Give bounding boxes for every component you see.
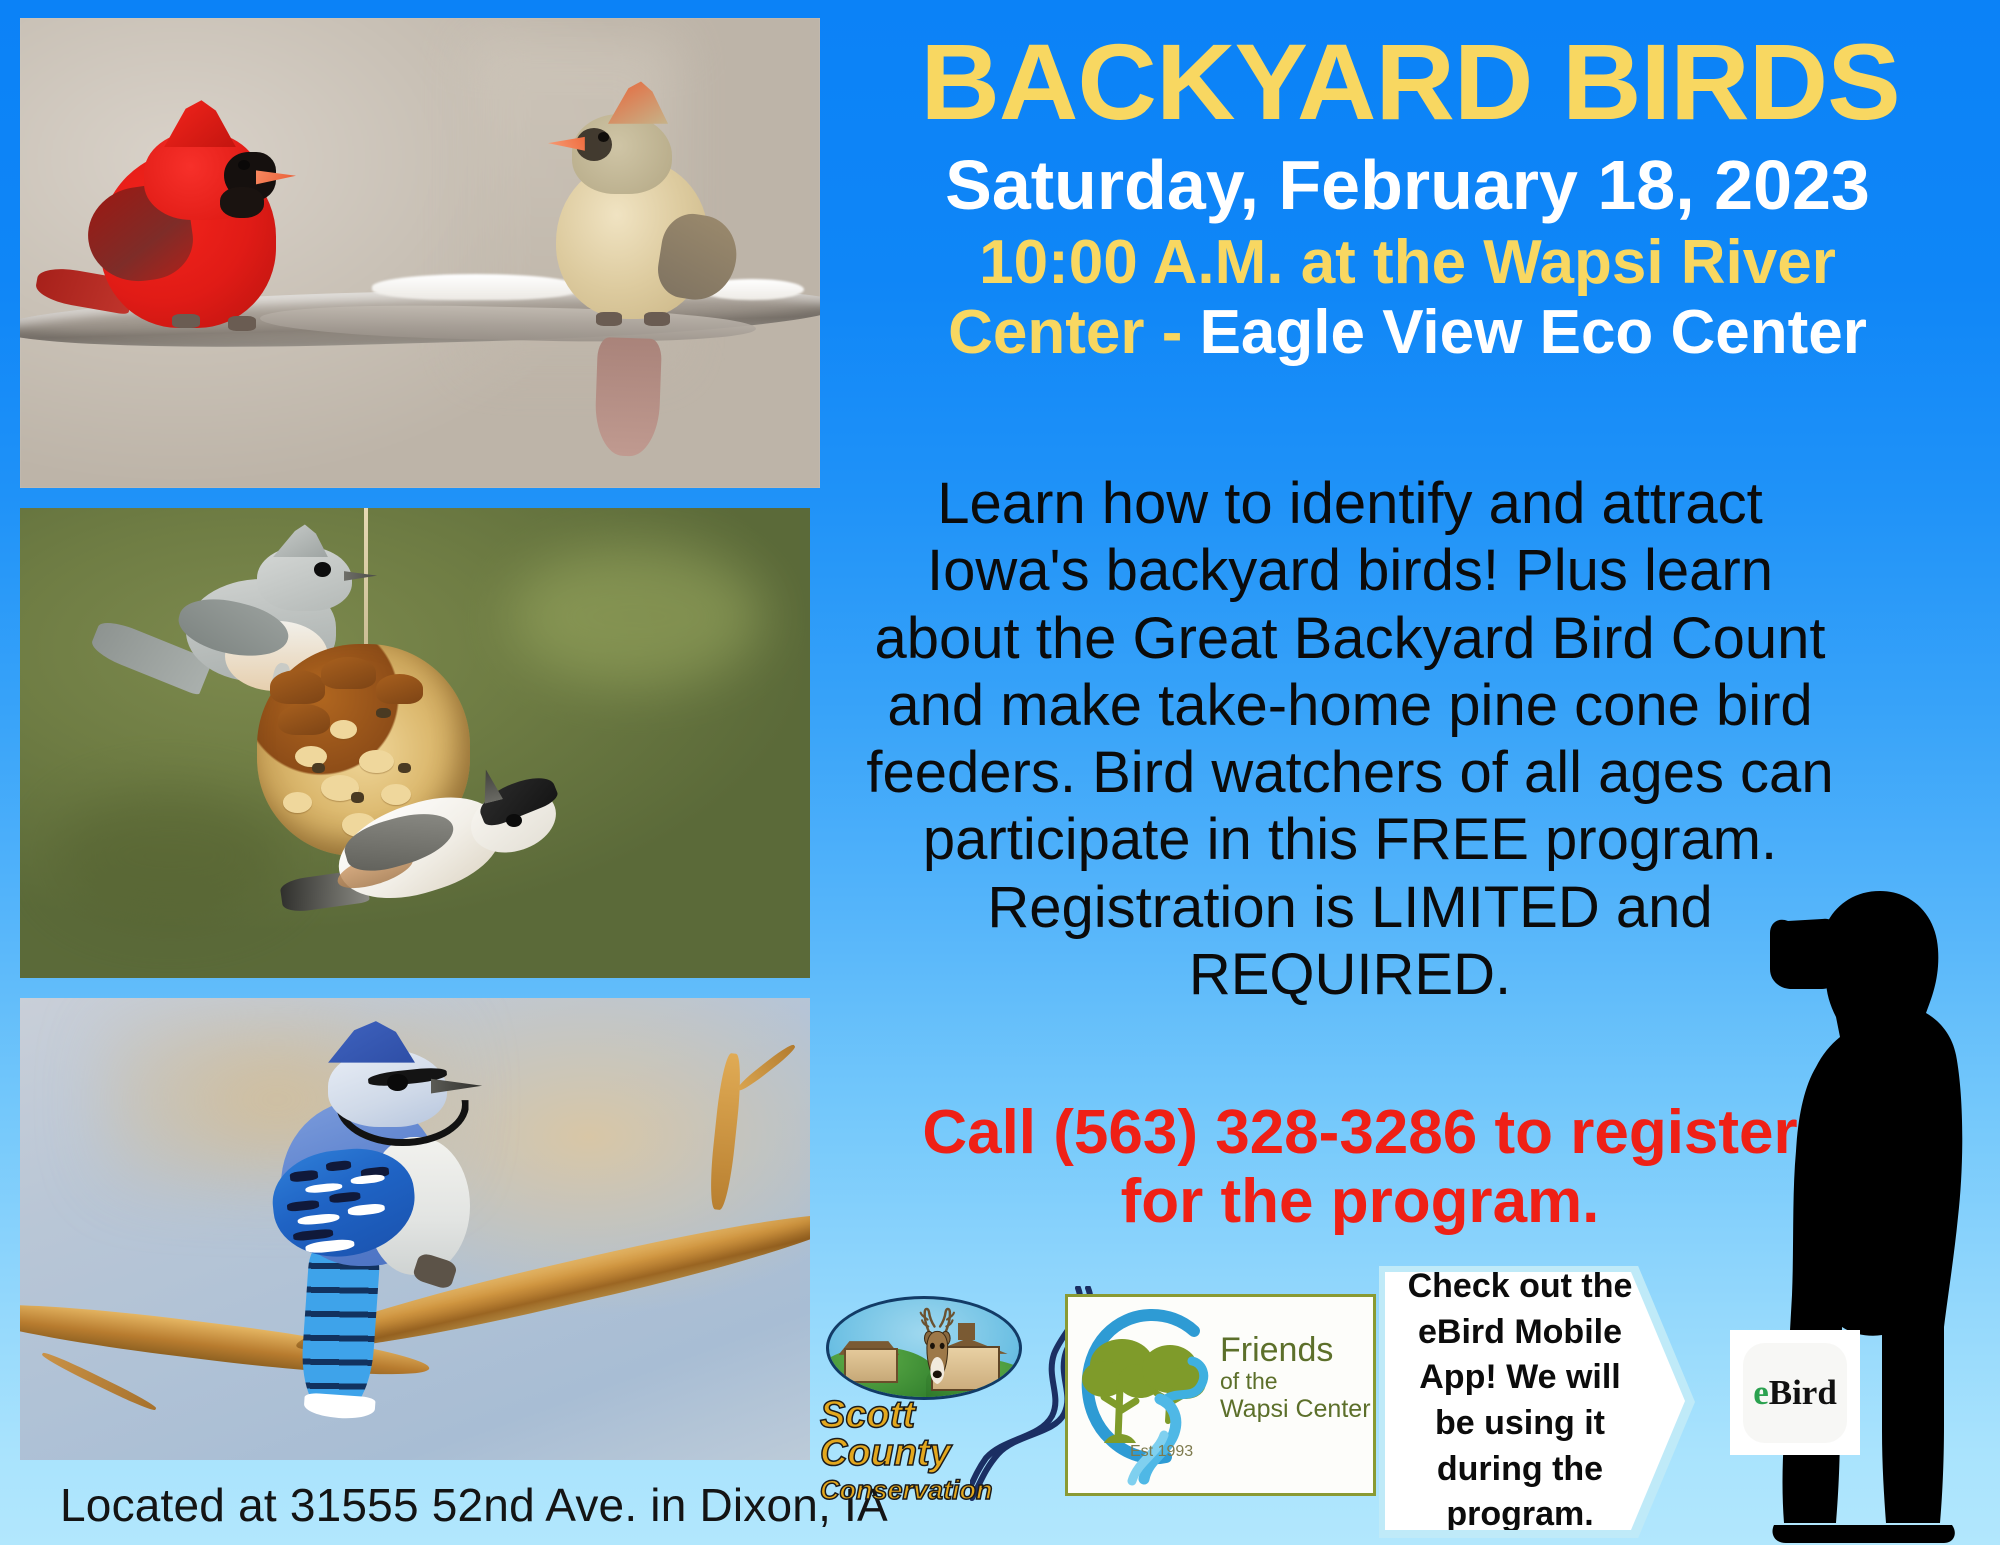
friends-line1: Friends: [1220, 1333, 1371, 1367]
ebird-callout-text: Check out the eBird Mobile App! We will …: [1385, 1264, 1685, 1537]
venue-yellow-text: Center -: [948, 298, 1199, 367]
male-cardinal-eye: [238, 160, 250, 170]
friends-established-year: Est 1993: [1130, 1443, 1193, 1461]
dark-seed: [312, 763, 325, 774]
snow-patch-icon: [372, 274, 580, 300]
scott-county-emblem-oval: [826, 1296, 1022, 1400]
dark-seed: [398, 763, 411, 774]
dark-seed: [376, 708, 391, 719]
male-cardinal-bib: [220, 187, 264, 218]
event-description: Learn how to identify and attract Iowa's…: [860, 470, 1840, 1008]
wing-bar-dark: [287, 1200, 319, 1213]
dark-seed: [351, 792, 364, 803]
wing-bar-dark: [293, 1228, 334, 1242]
photo-titmouse-nuthatch-feeder: [20, 508, 810, 978]
female-cardinal-foot-left: [596, 312, 622, 326]
male-cardinal-foot-left: [172, 314, 200, 328]
wing-bar-white: [305, 1239, 354, 1255]
scott-county-line2: Conservation: [820, 1476, 1030, 1506]
ebird-callout[interactable]: Check out the eBird Mobile App! We will …: [1385, 1272, 1685, 1530]
pine-cone-scale: [278, 704, 329, 736]
scott-county-conservation-logo: Scott County Conservation: [820, 1292, 1090, 1502]
wing-bar-dark: [329, 1191, 361, 1204]
deer-head-icon: [905, 1305, 970, 1395]
event-date: Saturday, February 18, 2023: [820, 148, 1995, 222]
friends-of-wapsi-center-logo: Friends of the Wapsi Center Est 1993: [1065, 1294, 1376, 1496]
photo-northern-cardinals: [20, 18, 820, 488]
wing-bar-white: [297, 1213, 340, 1227]
wing-bar-dark: [289, 1170, 318, 1182]
registration-call-to-action: Call (563) 328-3286 to register for the …: [880, 1098, 1840, 1237]
photo-blue-jay: [20, 998, 810, 1460]
pine-cone-scale: [270, 670, 325, 704]
event-venue-line2: Center - Eagle View Eco Center: [820, 300, 1995, 366]
seed-cluster: [330, 720, 358, 739]
scott-county-line1: Scott County: [820, 1396, 1030, 1472]
ebird-logo-tile: eBird: [1743, 1343, 1847, 1443]
wing-bar-white: [347, 1204, 385, 1217]
bluejay-eye: [387, 1074, 408, 1091]
feeder-bokeh-2: [52, 790, 289, 922]
ebird-logo-e: e: [1753, 1373, 1769, 1413]
friends-wapsi-wordmark: Friends of the Wapsi Center: [1220, 1333, 1371, 1424]
wing-bar-dark: [325, 1160, 351, 1172]
venue-white-text: Eagle View Eco Center: [1200, 298, 1867, 367]
location-caption: Located at 31555 52nd Ave. in Dixon, IA: [60, 1478, 888, 1532]
male-cardinal-foot-right: [228, 316, 256, 330]
page-title: BACKYARD BIRDS: [818, 28, 2000, 136]
nuthatch-eye: [506, 814, 522, 827]
pine-cone-scale: [321, 657, 376, 689]
seed-cluster: [359, 750, 393, 773]
ebird-logo-bird: Bird: [1769, 1373, 1837, 1413]
friends-line2: of the: [1220, 1369, 1371, 1394]
emblem-barn: [844, 1348, 897, 1383]
pine-cone-scale: [376, 674, 423, 704]
friends-line3: Wapsi Center: [1220, 1396, 1371, 1424]
feeder-bokeh-1: [510, 546, 763, 687]
scott-county-wordmark: Scott County Conservation: [820, 1396, 1030, 1506]
feeder-hanging-string: [364, 508, 368, 649]
female-cardinal-foot-right: [644, 312, 670, 326]
seed-cluster: [381, 784, 411, 805]
poster-canvas: BACKYARD BIRDS Saturday, February 18, 20…: [0, 0, 2000, 1545]
female-cardinal-eye: [598, 132, 609, 142]
ebird-logo[interactable]: eBird: [1730, 1330, 1860, 1455]
seed-cluster: [283, 792, 313, 813]
wing-bar-white: [350, 1174, 385, 1186]
event-time-venue-line1: 10:00 A.M. at the Wapsi River: [820, 230, 1995, 296]
